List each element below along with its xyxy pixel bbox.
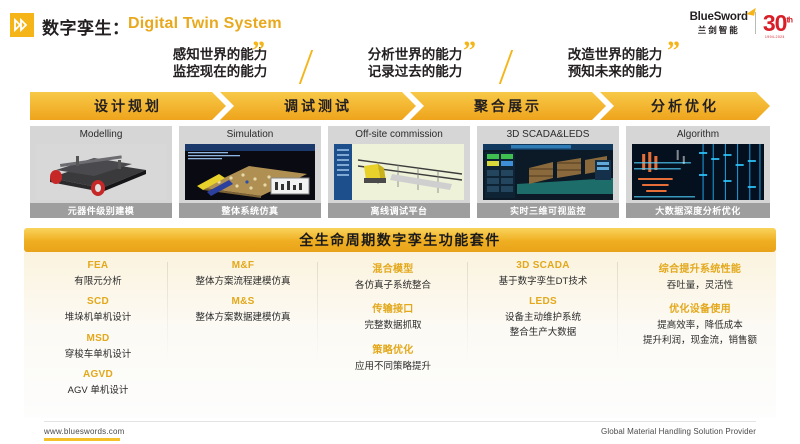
slide-header: 数字孪生： Digital Twin System BlueSword 兰剑智能… [0, 0, 800, 44]
column-divider [167, 262, 168, 362]
feature-head: 传输接口 [327, 300, 459, 315]
suite-banner-title: 全生命周期数字孪生功能套件 [299, 230, 501, 250]
quote-line: 分析世界的能力 [325, 47, 505, 64]
feature-group[interactable]: AGVD AGV 单机设计 [32, 369, 164, 398]
logo-brand-en: BlueSword [690, 12, 748, 24]
card-row: Modelling [30, 126, 770, 218]
card-algorithm[interactable]: Algorithm [626, 126, 770, 218]
feature-head: FEA [32, 260, 164, 271]
feature-desc: 提高效率，降低成本 [627, 319, 773, 333]
column-divider [317, 262, 318, 362]
feature-group[interactable]: 综合提升系统性能 吞吐量，灵活性 [627, 260, 773, 293]
feature-desc: 各仿真子系统整合 [327, 279, 459, 293]
process-stage-3[interactable]: 聚合展示 [410, 92, 606, 120]
feature-head: 策略优化 [327, 341, 459, 356]
card-title: Simulation [179, 129, 321, 140]
card-title: 3D SCADA&LEDS [477, 129, 619, 140]
feature-desc: AGV 单机设计 [32, 384, 164, 398]
feature-desc: 穿梭车单机设计 [32, 348, 164, 362]
quote-mark-icon: ” [463, 38, 476, 64]
logo-brand-cn: 兰剑智能 [698, 26, 740, 35]
anniversary-number: 30 [763, 10, 787, 36]
feature-group[interactable]: 混合模型 各仿真子系统整合 [327, 260, 459, 293]
footer-divider [44, 421, 756, 422]
company-logo: BlueSword 兰剑智能 30th 1994-2024 [690, 8, 792, 38]
feature-head: AGVD [32, 369, 164, 380]
feature-desc: 提升利润，现金流，销售额 [627, 334, 773, 348]
feature-desc: 完整数据抓取 [327, 319, 459, 333]
footer-website[interactable]: www.blueswords.com [44, 427, 125, 436]
feature-head: 3D SCADA [477, 260, 609, 271]
card-thumbnail [483, 144, 613, 200]
process-arrow-bar: 设计规划 调试测试 聚合展示 分析优化 [30, 92, 770, 120]
card-caption: 离线调试平台 [328, 203, 470, 218]
card-caption: 元器件级别建模 [30, 203, 172, 218]
quote-block: 感知世界的能力 监控现在的能力 [130, 47, 310, 81]
quote-line: 预知未来的能力 [525, 64, 705, 81]
feature-column-2: M&F 整体方案流程建模仿真 M&S 整体方案数据建模仿真 [177, 260, 309, 333]
card-thumbnail [36, 144, 166, 200]
card-caption: 大数据深度分析优化 [626, 203, 770, 218]
feature-column-3: 混合模型 各仿真子系统整合 传输接口 完整数据抓取 策略优化 应用不同策略提升 [327, 260, 459, 381]
process-stage-4[interactable]: 分析优化 [600, 92, 770, 120]
card-caption-text: 离线调试平台 [370, 204, 427, 217]
column-divider [467, 262, 468, 362]
quote-line: 记录过去的能力 [325, 64, 505, 81]
card-simulation[interactable]: Simulation [179, 126, 321, 218]
feature-column-5: 综合提升系统性能 吞吐量，灵活性 优化设备使用 提高效率，降低成本 提升利润，现… [627, 260, 773, 355]
feature-desc: 设备主动维护系统 [477, 311, 609, 325]
feature-column-1: FEA 有限元分析 SCD 堆垛机单机设计 MSD 穿梭车单机设计 AGVD A… [32, 260, 164, 405]
card-caption-text: 元器件级别建模 [68, 204, 135, 217]
process-stage-2[interactable]: 调试测试 [220, 92, 416, 120]
process-stage-label: 分析优化 [651, 96, 719, 116]
logo-wordmark: BlueSword 兰剑智能 [690, 12, 748, 34]
feature-head: 优化设备使用 [627, 300, 773, 315]
card-thumbnail [632, 144, 764, 200]
quote-mark-icon: ” [252, 38, 265, 64]
page-title-cn: 数字孪生： [42, 14, 130, 39]
process-stage-label: 聚合展示 [474, 96, 542, 116]
logo-swoosh-icon [746, 6, 755, 15]
feature-group[interactable]: 传输接口 完整数据抓取 [327, 300, 459, 333]
anniversary-years: 1994-2024 [765, 36, 785, 40]
column-divider [617, 262, 618, 362]
quote-line: 感知世界的能力 [130, 47, 310, 64]
feature-desc: 堆垛机单机设计 [32, 311, 164, 325]
feature-head: SCD [32, 296, 164, 307]
double-chevron-icon [10, 13, 34, 37]
quote-line: 监控现在的能力 [130, 64, 310, 81]
logo-divider [755, 12, 756, 34]
feature-group[interactable]: 优化设备使用 提高效率，降低成本 提升利润，现金流，销售额 [627, 300, 773, 348]
card-thumbnail [334, 144, 464, 200]
feature-head: M&F [177, 260, 309, 271]
feature-group[interactable]: SCD 堆垛机单机设计 [32, 296, 164, 325]
feature-desc: 吞吐量，灵活性 [627, 279, 773, 293]
card-3d-scada-leds[interactable]: 3D SCADA&LEDS [477, 126, 619, 218]
feature-desc: 整体方案流程建模仿真 [177, 275, 309, 289]
process-stage-label: 设计规划 [94, 96, 162, 116]
card-caption-text: 整体系统仿真 [221, 204, 278, 217]
quote-block: 分析世界的能力 记录过去的能力 [325, 47, 505, 81]
feature-head: LEDS [477, 296, 609, 307]
feature-desc: 基于数字孪生DT技术 [477, 275, 609, 289]
feature-head: M&S [177, 296, 309, 307]
feature-head: 综合提升系统性能 [627, 260, 773, 275]
process-stage-1[interactable]: 设计规划 [30, 92, 226, 120]
feature-group[interactable]: FEA 有限元分析 [32, 260, 164, 289]
card-thumbnail [185, 144, 315, 200]
anniversary-sup: th [786, 15, 792, 24]
card-title: Algorithm [626, 129, 770, 140]
quote-row: 感知世界的能力 监控现在的能力 ” 分析世界的能力 记录过去的能力 ” 改造世界… [0, 44, 800, 88]
feature-desc: 有限元分析 [32, 275, 164, 289]
feature-group[interactable]: M&S 整体方案数据建模仿真 [177, 296, 309, 325]
feature-desc: 应用不同策略提升 [327, 360, 459, 374]
feature-group[interactable]: 3D SCADA 基于数字孪生DT技术 [477, 260, 609, 289]
feature-group[interactable]: 策略优化 应用不同策略提升 [327, 341, 459, 374]
slide-root: 数字孪生： Digital Twin System BlueSword 兰剑智能… [0, 0, 800, 444]
slide-footer: www.blueswords.com Global Material Handl… [0, 418, 800, 444]
feature-group[interactable]: M&F 整体方案流程建模仿真 [177, 260, 309, 289]
card-title: Off-site commission [328, 129, 470, 140]
feature-head: MSD [32, 333, 164, 344]
quote-mark-icon: ” [667, 38, 680, 64]
feature-column-4: 3D SCADA 基于数字孪生DT技术 LEDS 设备主动维护系统 整合生产大数… [477, 260, 609, 347]
process-stage-label: 调试测试 [284, 96, 352, 116]
feature-desc: 整合生产大数据 [477, 326, 609, 340]
card-caption-text: 大数据深度分析优化 [655, 204, 741, 217]
footer-underline [44, 438, 120, 441]
feature-group[interactable]: MSD 穿梭车单机设计 [32, 333, 164, 362]
card-caption-text: 实时三维可视监控 [510, 204, 586, 217]
footer-tagline: Global Material Handling Solution Provid… [601, 427, 756, 436]
page-title-en: Digital Twin System [128, 15, 282, 33]
card-caption: 实时三维可视监控 [477, 203, 619, 218]
feature-panel: FEA 有限元分析 SCD 堆垛机单机设计 MSD 穿梭车单机设计 AGVD A… [24, 252, 776, 418]
card-modelling[interactable]: Modelling [30, 126, 172, 218]
feature-head: 混合模型 [327, 260, 459, 275]
card-caption: 整体系统仿真 [179, 203, 321, 218]
card-title: Modelling [30, 129, 172, 140]
feature-group[interactable]: LEDS 设备主动维护系统 整合生产大数据 [477, 296, 609, 340]
card-offsite-commission[interactable]: Off-site commission [328, 126, 470, 218]
suite-banner: 全生命周期数字孪生功能套件 [24, 228, 776, 252]
feature-desc: 整体方案数据建模仿真 [177, 311, 309, 325]
anniversary-badge: 30th 1994-2024 [763, 12, 792, 35]
